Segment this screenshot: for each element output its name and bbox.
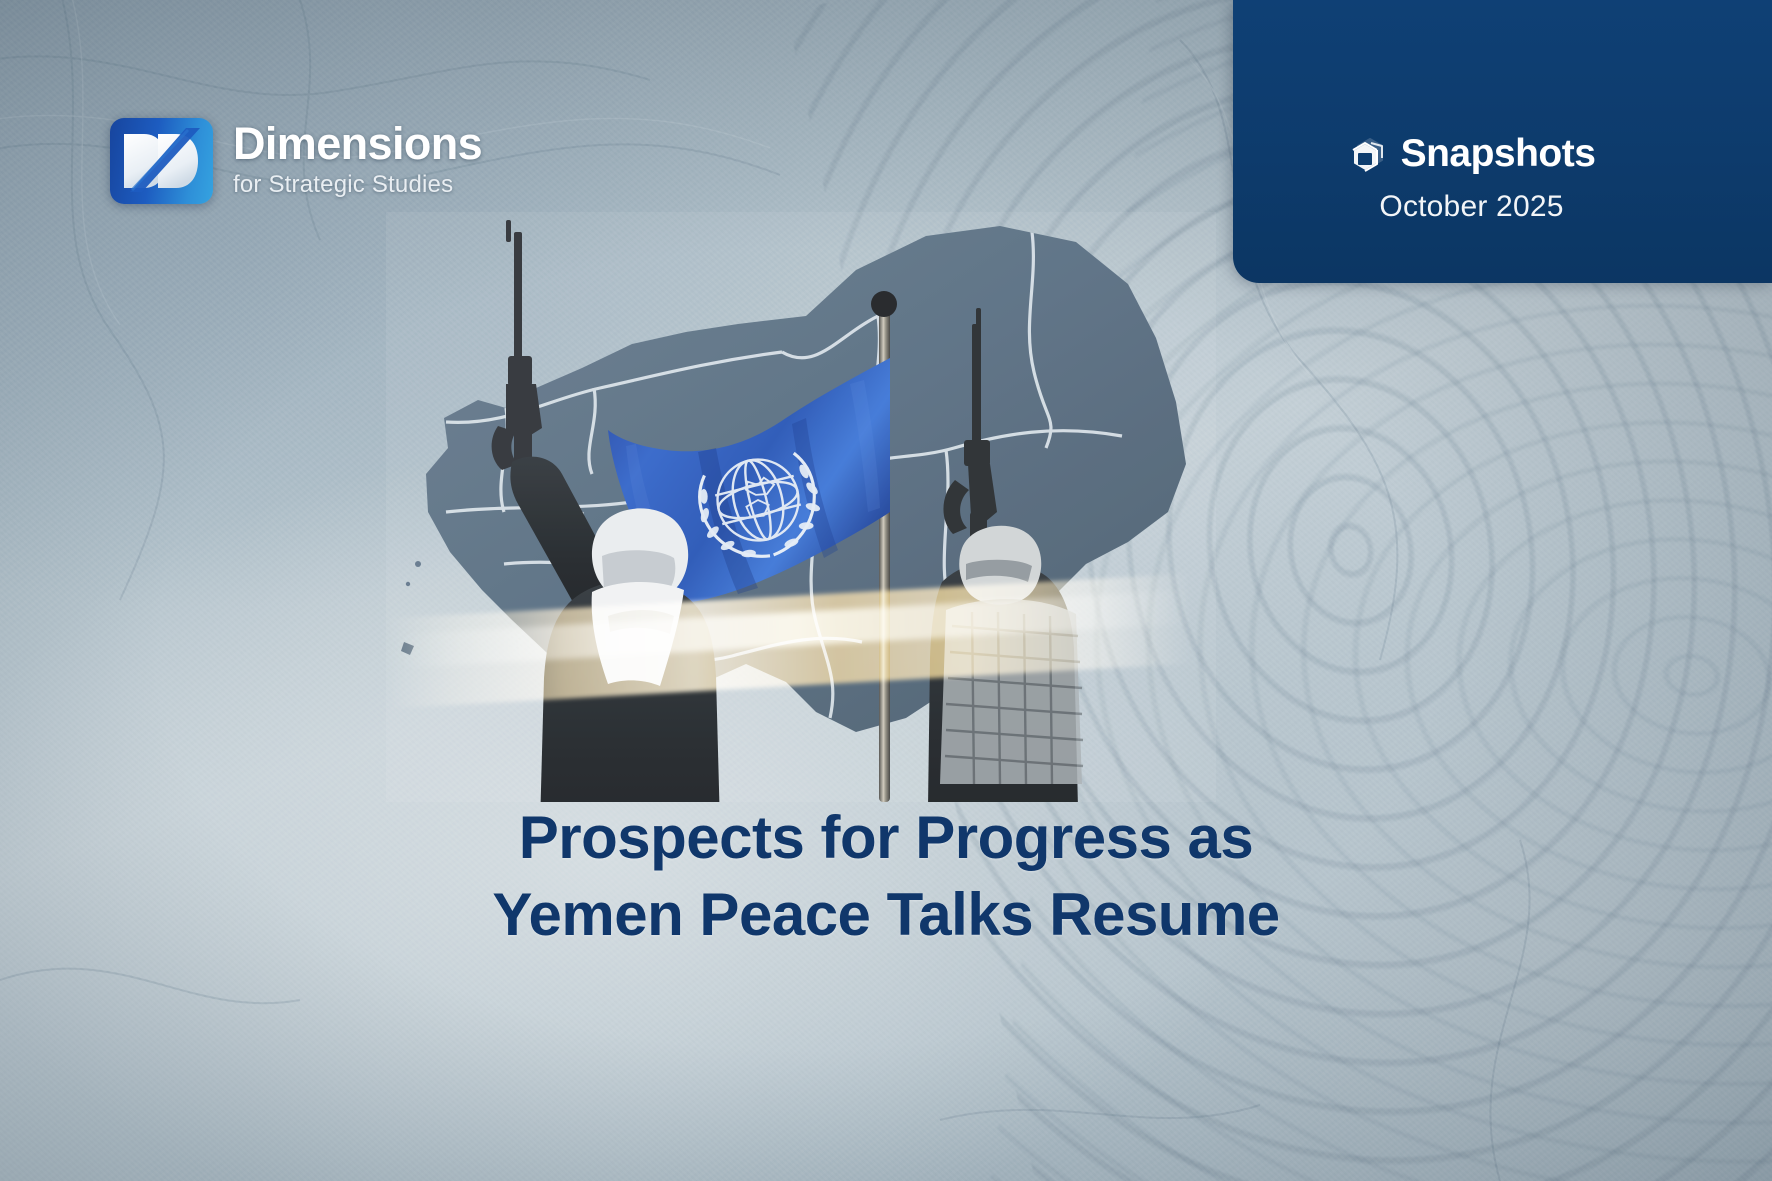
collage-artwork <box>386 212 1216 802</box>
brand-name: Dimensions <box>233 121 482 166</box>
dss-monogram-icon <box>110 118 213 204</box>
snapshots-badge-title-row: Snapshots <box>1348 132 1596 176</box>
cover-canvas: Dimensions for Strategic Studies <box>0 0 1772 1181</box>
page-title: Prospects for Progress as Yemen Peace Ta… <box>0 800 1772 954</box>
snapshots-badge-date: October 2025 <box>1379 190 1563 224</box>
page-title-line-2: Yemen Peace Talks Resume <box>0 877 1772 954</box>
brand-text: Dimensions for Strategic Studies <box>233 121 482 201</box>
brand-lockup[interactable]: Dimensions for Strategic Studies <box>110 118 482 204</box>
snapshots-badge-title: Snapshots <box>1401 132 1596 176</box>
brand-tagline: for Strategic Studies <box>233 173 482 197</box>
page-title-line-1: Prospects for Progress as <box>0 800 1772 877</box>
snapshots-badge[interactable]: Snapshots October 2025 <box>1233 0 1772 283</box>
snapshots-badge-content: Snapshots October 2025 <box>1233 132 1710 224</box>
snapshots-cube-icon <box>1348 134 1388 174</box>
